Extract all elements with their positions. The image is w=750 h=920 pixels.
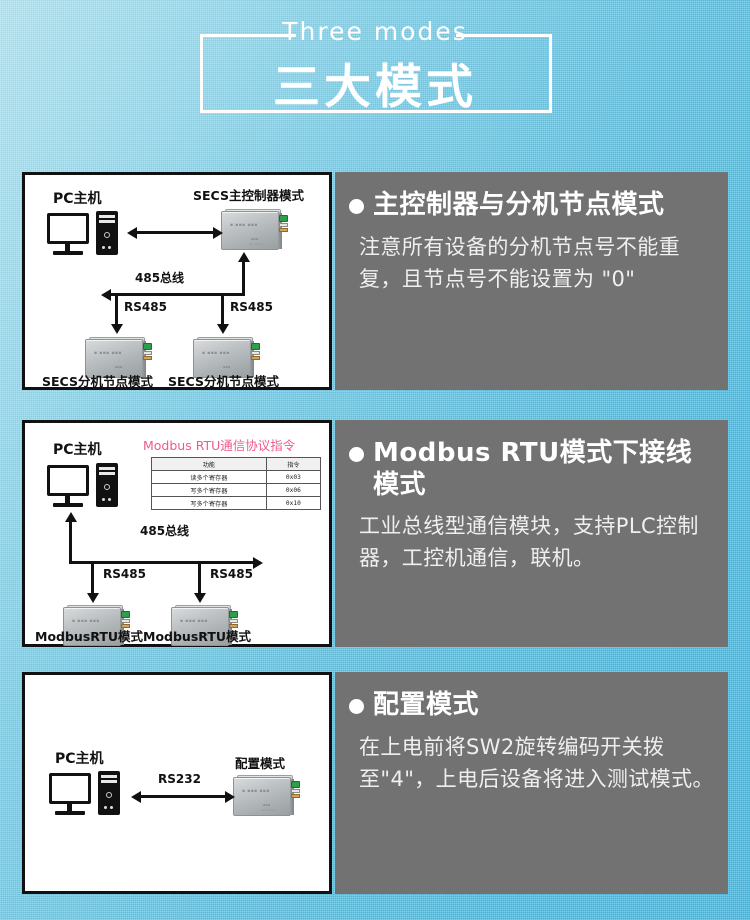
- monitor-neck: [67, 804, 72, 811]
- filled-circle-bullet-icon: [349, 447, 364, 462]
- table-cell-function: 写多个寄存器: [152, 497, 267, 510]
- riser-to-master-1: [242, 261, 245, 295]
- tower-power-icon: [104, 232, 110, 238]
- link-right-label-2: RS485: [210, 567, 253, 581]
- monitor-icon: [47, 213, 89, 244]
- table-cell-command: 0x06: [266, 484, 320, 497]
- tower-power-icon: [104, 484, 110, 490]
- table-row: 写多个寄存器 0x10: [152, 497, 321, 510]
- pc-label-3: PC主机: [55, 748, 104, 768]
- diagram-modbus-rtu: PC主机 Modbus RTU通信协议指令 功能 指令: [22, 420, 332, 647]
- device-green-terminal-icon: [291, 781, 300, 788]
- tower-slot-1: [99, 467, 115, 470]
- text-panel-config-mode: 配置模式 在上电前将SW2旋转编码开关拨至"4"，上电后设备将进入测试模式。: [335, 672, 728, 894]
- device-model-text: ▪▪▪: [115, 365, 122, 369]
- tower-led-1: [104, 806, 107, 809]
- arrow-bus-left-1: [101, 289, 111, 301]
- device-bottom-left-label-1: SECS分机节点模式: [42, 371, 153, 390]
- diagram-config-mode: PC主机 配置模式 ▪ ▪▪▪ ▪▪▪: [22, 672, 332, 894]
- header-chinese-title: 三大模式: [0, 48, 750, 117]
- device-brand-text: ▪ ▪▪▪ ▪▪▪: [242, 789, 270, 794]
- link-pc-to-master: [137, 231, 213, 234]
- section-body-2: 工业总线型通信模块，支持PLC控制器，工控机通信，联机。: [359, 511, 714, 575]
- device-model-text: ▪▪▪: [263, 803, 270, 807]
- device-green-terminal-icon: [279, 215, 288, 222]
- arrow-right-pc-master: [213, 227, 223, 239]
- bus-trunk-2: [69, 561, 255, 564]
- device-white-terminal-icon: [121, 619, 130, 623]
- device-label-3: 配置模式: [235, 753, 285, 772]
- table-cell-command: 0x10: [266, 497, 320, 510]
- table-cell-function: 读多个寄存器: [152, 471, 267, 484]
- arrow-down-right-2: [194, 593, 206, 603]
- drop-right-2: [198, 561, 201, 594]
- table-cell-function: 写多个寄存器: [152, 484, 267, 497]
- drop-left-1: [115, 293, 118, 325]
- section-title-text-1: 主控制器与分机节点模式: [373, 190, 665, 222]
- tower-led-1: [102, 246, 105, 249]
- arrow-up-pc-2: [65, 512, 77, 522]
- section-body-3: 在上电前将SW2旋转编码开关拨至"4"，上电后设备将进入测试模式。: [359, 732, 714, 796]
- text-panel-master-slave: 主控制器与分机节点模式 注意所有设备的分机节点号不能重复，且节点号不能设置为 "…: [335, 172, 728, 390]
- drop-left-2: [91, 561, 94, 594]
- pc-label-2: PC主机: [53, 439, 102, 459]
- device-white-terminal-icon: [229, 619, 238, 623]
- device-sub-text: ▪▪ ▪▪▪▪: [261, 808, 275, 812]
- diagram-master-slave: PC主机 SECS主控制器模式 ▪ ▪▪▪ ▪▪▪: [22, 172, 332, 390]
- device-orange-terminal-icon: [251, 356, 260, 360]
- link-left-label-1: RS485: [124, 300, 167, 314]
- bus-label-1: 485总线: [135, 269, 184, 286]
- section-title-text-3: 配置模式: [373, 690, 479, 722]
- bus-trunk-1: [111, 293, 245, 296]
- table-cell-command: 0x03: [266, 471, 320, 484]
- modbus-command-table: 功能 指令 读多个寄存器 0x03 写多个寄存器 0x06 写多个寄存器: [151, 457, 321, 510]
- device-green-terminal-icon: [229, 611, 238, 618]
- device-top-label-1: SECS主控制器模式: [193, 185, 304, 204]
- device-orange-terminal-icon: [291, 794, 300, 798]
- modbus-table-title: Modbus RTU通信协议指令: [143, 435, 295, 454]
- text-panel-modbus-rtu: Modbus RTU模式下接线模式 工业总线型通信模块，支持PLC控制器，工控机…: [335, 420, 728, 647]
- section-title-2: Modbus RTU模式下接线模式: [349, 438, 714, 501]
- tower-led-1: [102, 498, 105, 501]
- tower-led-2: [108, 246, 111, 249]
- device-brand-text: ▪ ▪▪▪ ▪▪▪: [94, 351, 122, 356]
- arrow-left-pc-master: [127, 227, 137, 239]
- arrow-down-left-2: [87, 593, 99, 603]
- arrow-right-3: [225, 791, 235, 803]
- tower-slot-1: [99, 215, 115, 218]
- device-icon-3: ▪ ▪▪▪ ▪▪▪ ▪▪▪ ▪▪ ▪▪▪▪: [233, 775, 297, 818]
- device-white-terminal-icon: [143, 351, 152, 355]
- device-brand-text: ▪ ▪▪▪ ▪▪▪: [230, 223, 258, 228]
- monitor-base: [53, 251, 83, 255]
- link-pc-to-device-3: [141, 795, 225, 798]
- section-title-3: 配置模式: [349, 690, 714, 722]
- riser-to-pc-2: [69, 521, 72, 563]
- section-body-1: 注意所有设备的分机节点号不能重复，且节点号不能设置为 "0": [359, 232, 714, 296]
- drop-right-1: [221, 293, 224, 325]
- table-row: 读多个寄存器 0x03: [152, 471, 321, 484]
- device-white-terminal-icon: [251, 351, 260, 355]
- tower-led-2: [108, 498, 111, 501]
- device-sub-text: ▪▪ ▪▪▪▪: [249, 242, 263, 246]
- link-left-label-2: RS485: [103, 567, 146, 581]
- device-brand-text: ▪ ▪▪▪ ▪▪▪: [180, 619, 208, 624]
- arrow-down-right-1: [217, 324, 229, 334]
- device-bottom-left-label-2: ModbusRTU模式: [35, 626, 143, 645]
- monitor-neck: [65, 244, 70, 251]
- device-brand-text: ▪ ▪▪▪ ▪▪▪: [72, 619, 100, 624]
- bus-label-2: 485总线: [140, 522, 189, 539]
- device-green-terminal-icon: [251, 343, 260, 350]
- table-header-row: 功能 指令: [152, 458, 321, 471]
- monitor-icon: [49, 773, 91, 804]
- section-title-1: 主控制器与分机节点模式: [349, 190, 714, 222]
- device-model-text: ▪▪▪: [223, 365, 230, 369]
- device-icon-top-1: ▪ ▪▪▪ ▪▪▪ ▪▪▪ ▪▪ ▪▪▪▪: [221, 209, 285, 252]
- tower-power-icon: [106, 792, 112, 798]
- tower-slot-2: [99, 472, 115, 475]
- page-header: Three modes 三大模式: [0, 0, 750, 140]
- device-bottom-right-label-1: SECS分机节点模式: [168, 371, 279, 390]
- device-bottom-right-label-2: ModbusRTU模式: [143, 626, 251, 645]
- table-header-command: 指令: [266, 458, 320, 471]
- filled-circle-bullet-icon: [349, 699, 364, 714]
- tower-slot-2: [101, 780, 117, 783]
- monitor-base: [53, 503, 83, 507]
- arrow-left-3: [131, 791, 141, 803]
- monitor-neck: [65, 496, 70, 503]
- link-label-3: RS232: [158, 772, 201, 786]
- arrow-bus-right-2: [253, 557, 263, 569]
- pc-label-1: PC主机: [53, 188, 102, 208]
- arrow-up-master-1: [238, 252, 250, 262]
- tower-slot-2: [99, 220, 115, 223]
- device-white-terminal-icon: [291, 789, 300, 793]
- device-white-terminal-icon: [279, 223, 288, 227]
- monitor-icon: [47, 465, 89, 496]
- device-model-text: ▪▪▪: [251, 237, 258, 241]
- tower-led-2: [110, 806, 113, 809]
- device-orange-terminal-icon: [143, 356, 152, 360]
- link-right-label-1: RS485: [230, 300, 273, 314]
- header-english-title: Three modes: [0, 17, 750, 46]
- device-brand-text: ▪ ▪▪▪ ▪▪▪: [202, 351, 230, 356]
- monitor-base: [55, 811, 85, 815]
- device-orange-terminal-icon: [279, 228, 288, 232]
- device-green-terminal-icon: [143, 343, 152, 350]
- section-title-text-2: Modbus RTU模式下接线模式: [373, 438, 714, 501]
- table-header-function: 功能: [152, 458, 267, 471]
- device-green-terminal-icon: [121, 611, 130, 618]
- arrow-down-left-1: [111, 324, 123, 334]
- filled-circle-bullet-icon: [349, 199, 364, 214]
- tower-slot-1: [101, 775, 117, 778]
- table-row: 写多个寄存器 0x06: [152, 484, 321, 497]
